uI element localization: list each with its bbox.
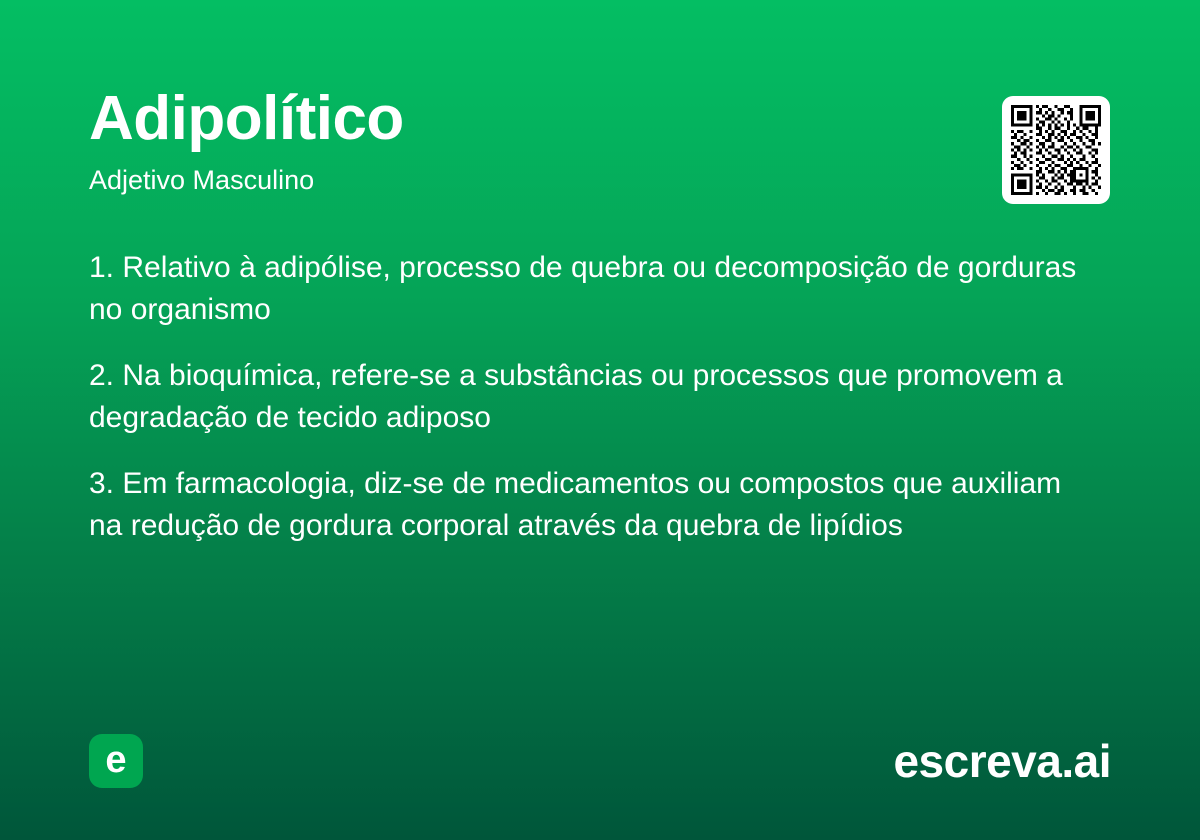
dictionary-card: Adipolítico Adjetivo Masculino [0, 0, 1200, 840]
definition-item: 2. Na bioquímica, refere-se a substância… [89, 355, 1081, 439]
qr-code-card[interactable] [1002, 96, 1110, 204]
logo-letter: e [105, 741, 126, 779]
page-title: Adipolítico [89, 88, 1110, 150]
card-header: Adipolítico Adjetivo Masculino [89, 88, 1110, 196]
escreva-logo-icon[interactable]: e [89, 734, 143, 788]
definition-item: 3. Em farmacologia, diz-se de medicament… [89, 463, 1081, 547]
definition-item: 1. Relativo à adipólise, processo de que… [89, 247, 1081, 331]
word-classification: Adjetivo Masculino [89, 166, 1110, 196]
qr-code-icon [1011, 105, 1101, 195]
definitions-list: 1. Relativo à adipólise, processo de que… [89, 247, 1081, 547]
brand-wordmark: escreva.ai [893, 738, 1111, 784]
card-footer: e escreva.ai [89, 734, 1111, 788]
